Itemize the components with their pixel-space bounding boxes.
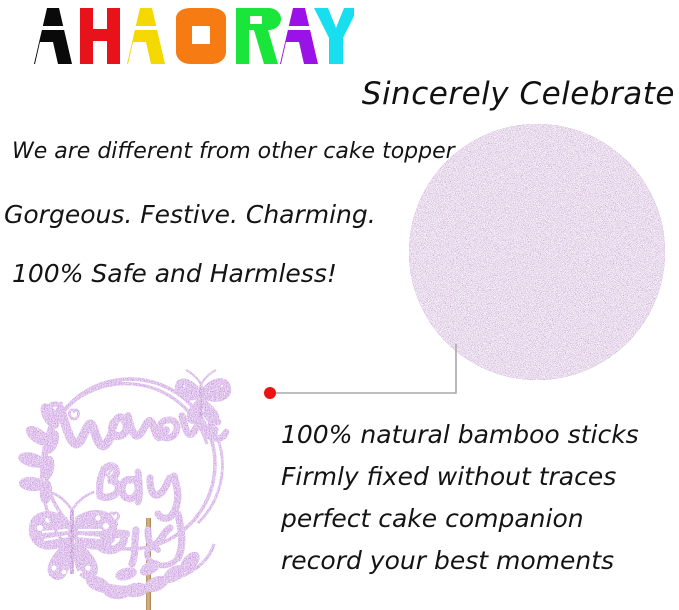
logo-letter-h bbox=[80, 8, 120, 64]
feature-line-4: record your best moments bbox=[281, 540, 679, 582]
welcome-baby-girl-cake-topper: Welcome Baby Girl bbox=[2, 368, 264, 610]
feature-line-2: Firmly fixed without traces bbox=[281, 456, 679, 498]
logo-letter-a-2 bbox=[127, 8, 165, 64]
callout-leader-line bbox=[275, 344, 456, 393]
brand-logo: AHAORAY bbox=[14, 4, 354, 66]
logo-letter-y bbox=[314, 8, 354, 64]
copy-line-attributes: Gorgeous. Festive. Charming. bbox=[4, 200, 376, 229]
logo-letter-o bbox=[176, 8, 226, 64]
copy-line-safety: 100% Safe and Harmless! bbox=[12, 259, 337, 288]
logo-letter-a-3 bbox=[280, 8, 318, 64]
logo-letter-a-1 bbox=[34, 8, 72, 64]
logo-letter-r bbox=[236, 8, 281, 64]
topper-glitter-overlay bbox=[17, 370, 231, 601]
feature-line-1: 100% natural bamboo sticks bbox=[281, 414, 679, 456]
callout-anchor-dot bbox=[264, 387, 276, 399]
feature-line-3: perfect cake companion bbox=[281, 498, 679, 540]
callout-leader bbox=[255, 330, 475, 410]
page-tagline: Sincerely Celebrate bbox=[362, 76, 675, 112]
product-infographic: AHAORAY bbox=[0, 0, 679, 610]
copy-line-differentiator: We are different from other cake topper bbox=[12, 139, 455, 164]
feature-copy-block: 100% natural bamboo sticks Firmly fixed … bbox=[281, 414, 679, 582]
